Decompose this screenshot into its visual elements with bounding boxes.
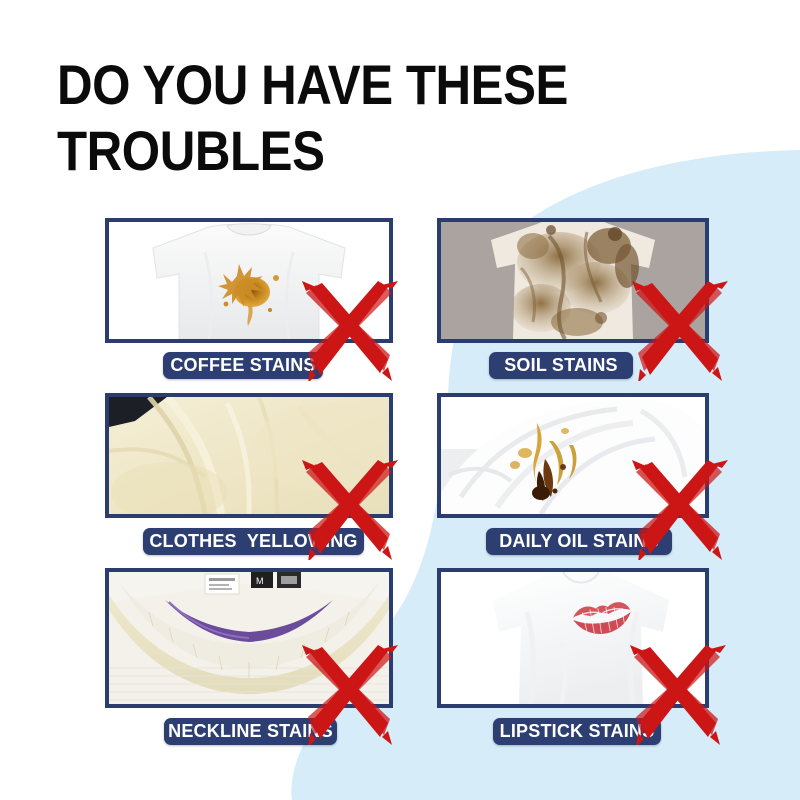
oil-stain-shirt-icon <box>441 397 705 514</box>
tshirt-soil-icon <box>441 222 705 339</box>
photo-frame-daily-oil-stains <box>437 393 709 518</box>
photo-clothes-yellowing <box>109 397 389 514</box>
trouble-card-grid: COFFEE STAINS <box>0 0 800 800</box>
photo-soil-stains <box>441 222 705 339</box>
badge-coffee-stains[interactable]: COFFEE STAINS <box>163 352 323 379</box>
badge-lipstick-stains[interactable]: LIPSTICK STAINS <box>493 718 661 745</box>
badge-soil-stains[interactable]: SOIL STAINS <box>489 352 633 379</box>
svg-text:M: M <box>256 576 264 586</box>
tshirt-lipstick-icon <box>441 572 705 704</box>
photo-coffee-stains <box>109 222 389 339</box>
photo-neckline-stains: M <box>109 572 389 704</box>
photo-frame-lipstick-stains <box>437 568 709 708</box>
photo-frame-soil-stains <box>437 218 709 343</box>
photo-frame-coffee-stains <box>105 218 393 343</box>
photo-frame-neckline-stains: M <box>105 568 393 708</box>
poster-root: DO YOU HAVE THESE TROUBLES <box>0 0 800 800</box>
badge-neckline-stains[interactable]: NECKLINE STAINS <box>164 718 337 745</box>
yellowed-fabric-icon <box>109 397 389 514</box>
photo-frame-clothes-yellowing <box>105 393 393 518</box>
tshirt-coffee-icon <box>109 222 389 339</box>
photo-lipstick-stains <box>441 572 705 704</box>
photo-daily-oil-stains <box>441 397 705 514</box>
neckline-icon: M <box>109 572 389 704</box>
badge-daily-oil-stains[interactable]: DAILY OIL STAINS <box>486 528 672 555</box>
badge-clothes-yellowing[interactable]: CLOTHES YELLOWING <box>143 528 364 555</box>
